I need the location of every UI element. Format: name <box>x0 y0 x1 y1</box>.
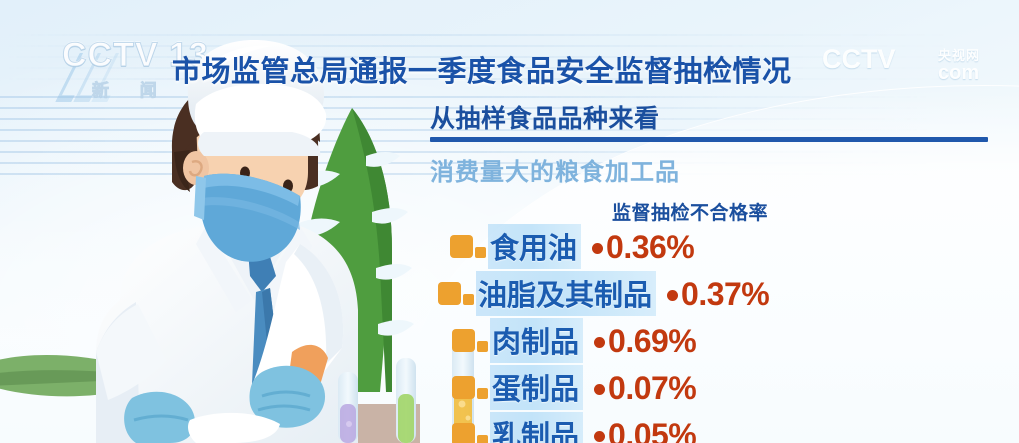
category-value: 0.07% <box>608 372 696 404</box>
category-label: 肉制品 <box>490 318 583 363</box>
category-value: 0.05% <box>608 419 696 443</box>
rate-column-caption: 监督抽检不合格率 <box>612 198 768 225</box>
square-bullet-icon <box>448 232 488 262</box>
list-item: 蛋制品 0.07% <box>450 364 868 411</box>
value-dot-icon <box>594 431 605 442</box>
news-graphic-screen: CCTV 13 新 闻 CCTV 央视网 com <box>0 0 1019 443</box>
category-label: 食用油 <box>488 224 581 269</box>
category-label: 油脂及其制品 <box>476 271 656 316</box>
square-bullet-icon <box>450 373 490 403</box>
value-dot-icon <box>594 337 605 348</box>
category-value: 0.36% <box>606 231 694 263</box>
category-label: 乳制品 <box>490 412 583 443</box>
square-bullet-icon <box>436 279 476 309</box>
list-item: 乳制品 0.05% <box>450 411 868 443</box>
category-value: 0.37% <box>681 278 769 310</box>
subheading-secondary: 消费量大的粮食加工品 <box>430 152 680 187</box>
subheading-block: 从抽样食品品种来看 <box>430 106 990 142</box>
list-item: 食用油 0.36% <box>448 223 868 270</box>
list-item: 油脂及其制品 0.37% <box>436 270 868 317</box>
value-dot-icon <box>592 243 603 254</box>
value-dot-icon <box>667 290 678 301</box>
page-title: 市场监管总局通报一季度食品安全监督抽检情况 <box>172 58 792 87</box>
square-bullet-icon <box>450 420 490 443</box>
subheading: 从抽样食品品种来看 <box>430 106 990 134</box>
square-bullet-icon <box>450 326 490 356</box>
value-dot-icon <box>594 384 605 395</box>
list-item: 肉制品 0.69% <box>450 317 868 364</box>
category-value: 0.69% <box>608 325 696 357</box>
statistics-list: 食用油 0.36% 油脂及其制品 0.37% 肉制品 0.69% 蛋制品 0.0… <box>448 223 868 443</box>
category-label: 蛋制品 <box>490 365 583 410</box>
subheading-underline <box>430 137 988 142</box>
